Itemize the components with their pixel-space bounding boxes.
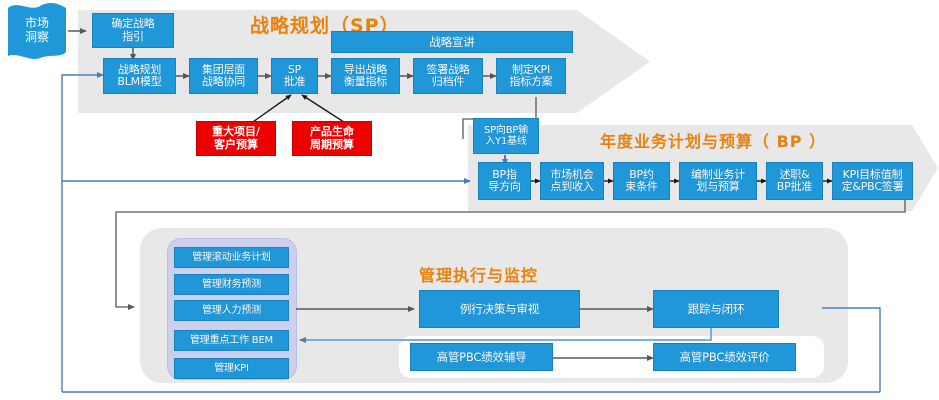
sp-step-2[interactable]: 集团层面 战略协同 [189,58,258,94]
exec-flow-bottom-1[interactable]: 高管PBC绩效评价 [653,343,796,371]
bp-step-1[interactable]: 市场机会 点到收入 [540,162,604,200]
bp-step-3[interactable]: 编制业务计 划与预算 [679,162,757,200]
bp-step-5[interactable]: KPI目标值制 定&PBC签署 [832,162,913,200]
exec-manage-item-4[interactable]: 管理KPI [174,358,289,379]
exec-flow-bottom-0[interactable]: 高管PBC绩效辅导 [410,343,553,371]
exec-manage-item-3[interactable]: 管理重点工作 BEM [174,330,289,351]
sp-banner-label-box[interactable]: 战略宣讲 [331,31,573,53]
exec-flow-top-0[interactable]: 例行决策与审视 [419,290,580,328]
sp-step-0[interactable]: 确定战略 指引 [92,13,174,48]
sp-step-3[interactable]: SP 批准 [271,58,318,94]
sp-step-1[interactable]: 战略规划 BLM模型 [103,58,176,94]
wavy-flag-icon [4,2,70,60]
bp-step-2[interactable]: BP约 束条件 [613,162,670,200]
bp-step-0[interactable]: BP指 导方向 [478,162,531,200]
exec-manage-item-0[interactable]: 管理滚动业务计划 [174,247,289,268]
sp-step-4[interactable]: 导出战略 衡量指标 [331,58,400,94]
bp-section-title: 年度业务计划与预算（ BP ） [600,128,826,152]
exec-manage-item-1[interactable]: 管理财务预测 [174,274,289,295]
sp-alert-1[interactable]: 产品生命 周期预算 [292,121,372,156]
sp-step-6[interactable]: 制定KPI 指标方案 [496,58,566,94]
bp-input-box[interactable]: SP向BP输 入Y1基线 [473,118,539,154]
exec-manage-item-2[interactable]: 管理人力预测 [174,300,289,321]
diagram-canvas: 战略规划（SP） 年度业务计划与预算（ BP ） 管理执行与监控 [0,0,939,400]
exec-section-title: 管理执行与监控 [419,262,538,286]
market-insight-flag: 市场 洞察 [4,2,70,60]
bp-step-4[interactable]: 述职& BP批准 [766,162,823,200]
exec-flow-top-1[interactable]: 跟踪与闭环 [653,290,779,328]
sp-step-5[interactable]: 签署战略 归档件 [413,58,483,94]
sp-alert-0[interactable]: 重大项目/ 客户预算 [196,121,276,156]
